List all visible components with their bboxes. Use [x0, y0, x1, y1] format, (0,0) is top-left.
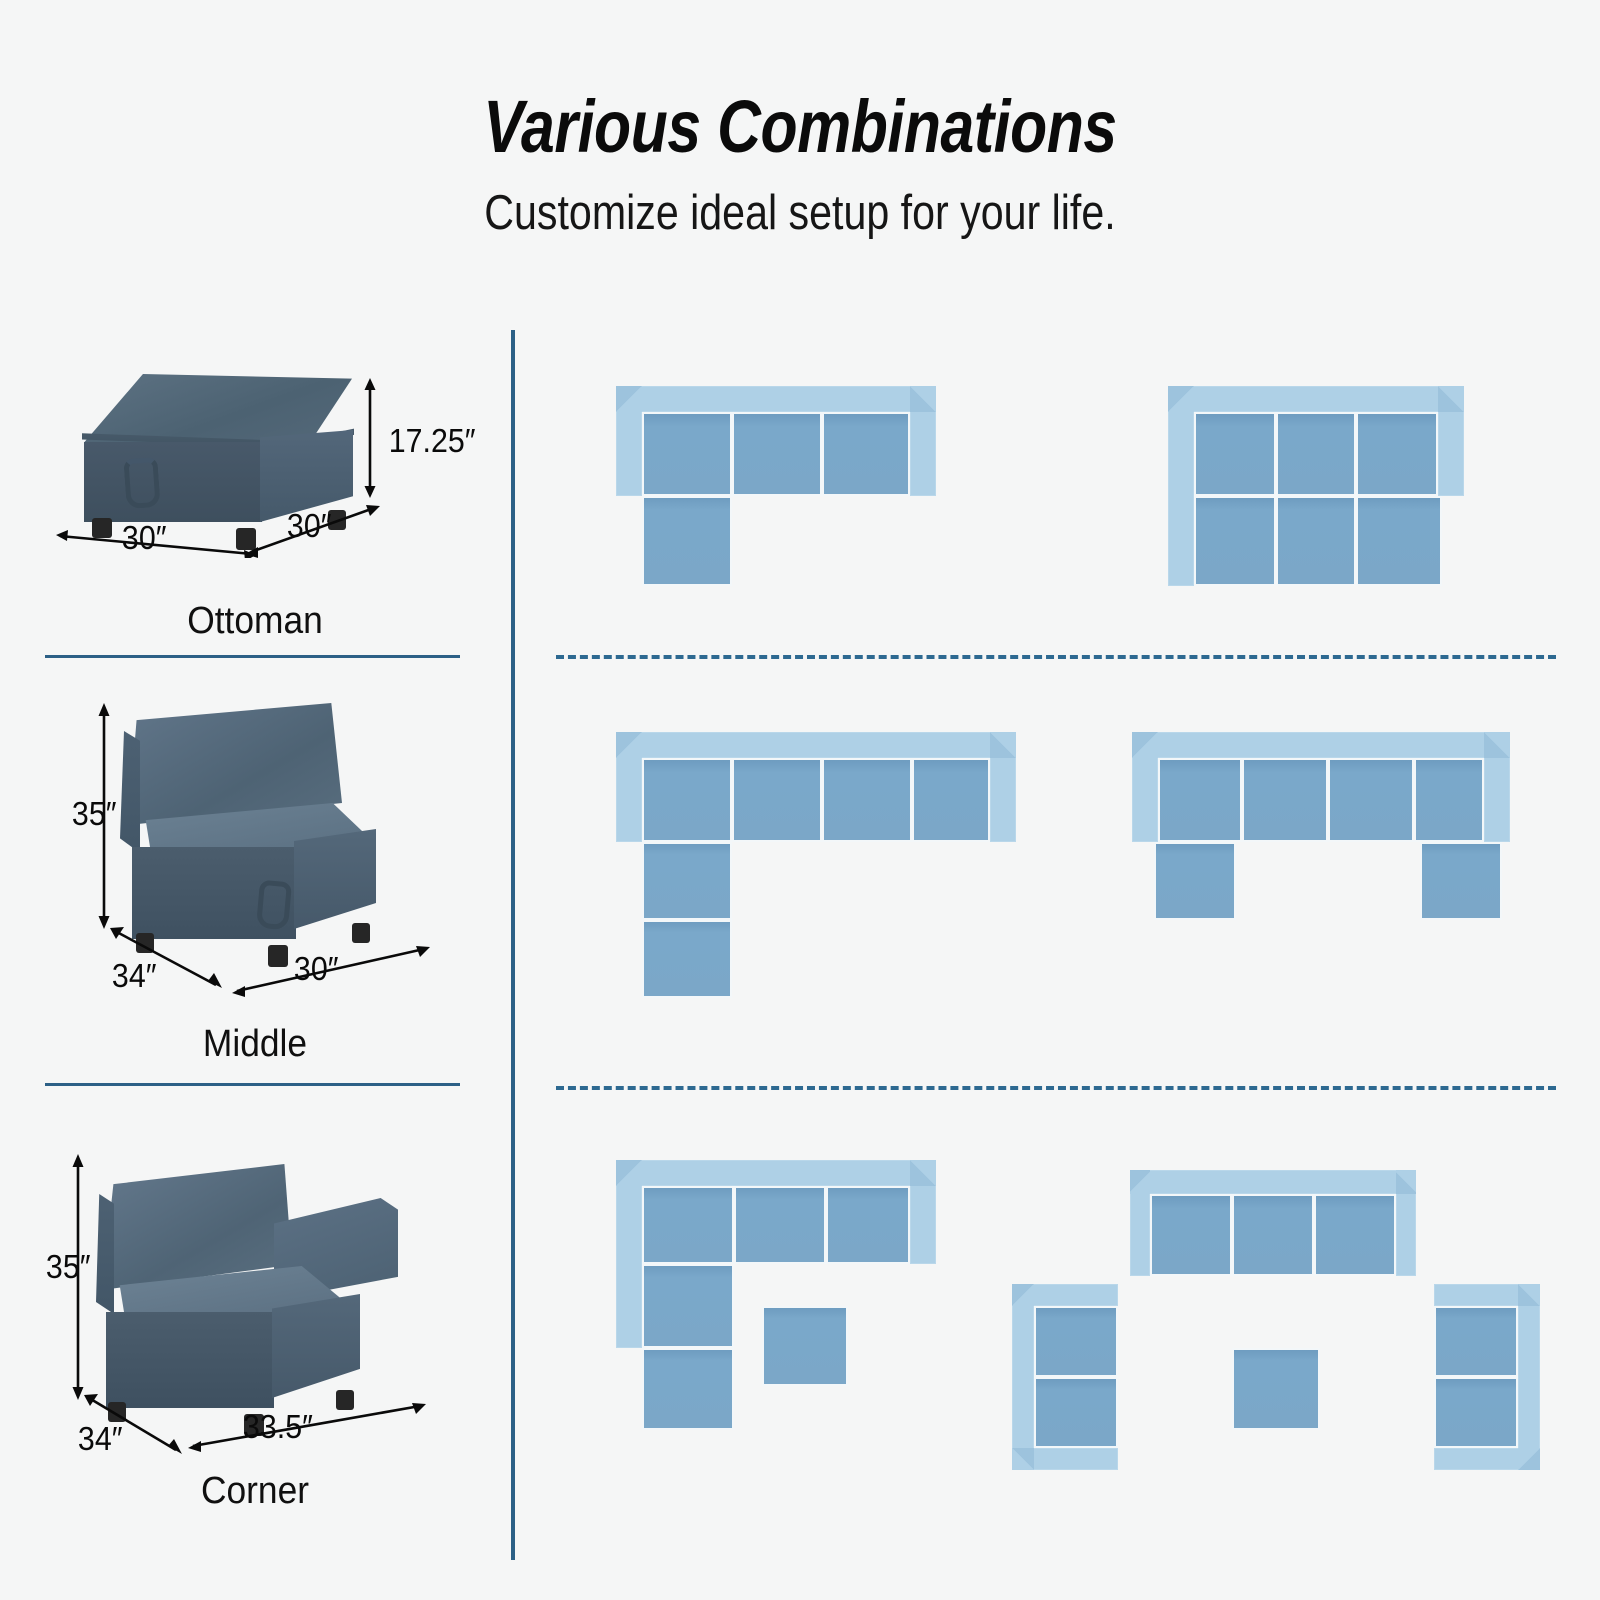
- seat[interactable]: [826, 1186, 910, 1264]
- right-corner-mitre: [1484, 732, 1510, 758]
- left-corner-mitre: [1132, 732, 1158, 758]
- back-frame: [1132, 732, 1510, 758]
- seat[interactable]: [642, 920, 732, 998]
- back-frame: [616, 732, 1016, 758]
- module-name-ottoman: Ottoman: [55, 600, 455, 643]
- left-divider-1: [45, 655, 460, 658]
- seat[interactable]: [822, 758, 912, 842]
- combination-diagram-1[interactable]: [616, 386, 936, 586]
- middle-dimension-width: 30″: [294, 950, 339, 988]
- ottoman-dimension-width: 30″: [122, 519, 167, 557]
- vertical-divider: [511, 330, 515, 1560]
- bottom-corner-mitre: [1012, 1448, 1034, 1470]
- dashed-divider-1: [556, 655, 1556, 659]
- ottoman-seat[interactable]: [1232, 1348, 1320, 1430]
- back-frame: [1012, 1284, 1034, 1470]
- seat[interactable]: [1276, 496, 1356, 586]
- seat[interactable]: [1434, 1377, 1518, 1448]
- combination-diagram-6-sofa[interactable]: [1130, 1170, 1416, 1276]
- seat[interactable]: [1232, 1194, 1314, 1276]
- corner-dimension-height: 35″: [46, 1248, 91, 1286]
- seat[interactable]: [642, 1186, 734, 1264]
- seat[interactable]: [642, 412, 732, 496]
- seat[interactable]: [1328, 758, 1414, 842]
- seat[interactable]: [822, 412, 910, 496]
- left-corner-mitre: [1168, 386, 1194, 412]
- right-corner-mitre: [1438, 386, 1464, 412]
- middle-dimension-height: 35″: [72, 795, 117, 833]
- seat[interactable]: [1194, 412, 1276, 496]
- module-card-corner: 35″ 34″ 33.5″ Corner: [40, 1120, 470, 1520]
- seat[interactable]: [642, 842, 732, 920]
- combination-diagram-6-ottoman[interactable]: [1232, 1348, 1320, 1430]
- seat[interactable]: [642, 1264, 734, 1348]
- corner-dimension-width: 33.5″: [243, 1408, 313, 1446]
- seat[interactable]: [1150, 1194, 1232, 1276]
- seat[interactable]: [642, 1348, 734, 1430]
- left-corner-mitre: [1130, 1170, 1150, 1194]
- top-corner-mitre: [1518, 1284, 1540, 1306]
- middle-dimension-depth: 34″: [112, 957, 157, 995]
- page-title: Various Combinations: [144, 84, 1456, 169]
- seat[interactable]: [732, 758, 822, 842]
- module-name-middle: Middle: [55, 1023, 455, 1066]
- left-arm-frame: [1168, 386, 1194, 586]
- seat[interactable]: [1434, 1306, 1518, 1377]
- ottoman-dimension-depth: 30″: [287, 507, 332, 545]
- seat[interactable]: [642, 758, 732, 842]
- dashed-divider-2: [556, 1086, 1556, 1090]
- seat[interactable]: [1034, 1377, 1118, 1448]
- left-corner-mitre: [616, 386, 642, 412]
- page-subtitle: Customize ideal setup for your life.: [128, 185, 1472, 241]
- top-corner-mitre: [1012, 1284, 1034, 1306]
- seat[interactable]: [1356, 496, 1442, 586]
- seat[interactable]: [1194, 496, 1276, 586]
- seat[interactable]: [732, 412, 822, 496]
- seat[interactable]: [1420, 842, 1502, 920]
- back-frame: [616, 1160, 936, 1186]
- combination-diagram-6-left-loveseat[interactable]: [1012, 1284, 1118, 1470]
- ottoman-dimension-height: 17.25″: [389, 422, 476, 460]
- seat[interactable]: [1154, 842, 1236, 920]
- combination-diagram-5[interactable]: [616, 1160, 936, 1440]
- seat[interactable]: [1242, 758, 1328, 842]
- seat[interactable]: [912, 758, 990, 842]
- combination-diagram-6-right-loveseat[interactable]: [1434, 1284, 1540, 1470]
- seat[interactable]: [1314, 1194, 1396, 1276]
- combination-diagram-3[interactable]: [616, 732, 1016, 998]
- left-corner-mitre: [616, 1160, 642, 1186]
- left-corner-mitre: [616, 732, 642, 758]
- seat[interactable]: [1034, 1306, 1118, 1377]
- seat[interactable]: [1356, 412, 1438, 496]
- ottoman-seat[interactable]: [762, 1306, 848, 1386]
- back-frame: [1130, 1170, 1416, 1194]
- module-card-ottoman: 17.25″ 30″ 30″ Ottoman: [40, 350, 470, 650]
- module-name-corner: Corner: [55, 1470, 455, 1513]
- ottoman-height-dimension-arrow: [358, 378, 382, 498]
- seat[interactable]: [642, 496, 732, 586]
- combination-diagram-4[interactable]: [1132, 732, 1510, 920]
- left-divider-2: [45, 1083, 460, 1086]
- right-corner-mitre: [1396, 1170, 1416, 1194]
- bottom-corner-mitre: [1518, 1448, 1540, 1470]
- back-frame: [1168, 386, 1464, 412]
- seat[interactable]: [1414, 758, 1484, 842]
- seat[interactable]: [1158, 758, 1242, 842]
- left-arm-frame: [616, 1160, 642, 1348]
- module-card-middle: 35″ 34″ 30″ Middle: [40, 685, 470, 1075]
- back-frame: [616, 386, 936, 412]
- right-corner-mitre: [990, 732, 1016, 758]
- right-corner-mitre: [910, 386, 936, 412]
- corner-dimension-depth: 34″: [78, 1420, 123, 1458]
- back-frame: [1518, 1284, 1540, 1470]
- right-corner-mitre: [910, 1160, 936, 1186]
- seat[interactable]: [1276, 412, 1356, 496]
- seat[interactable]: [734, 1186, 826, 1264]
- combination-diagram-2[interactable]: [1168, 386, 1464, 586]
